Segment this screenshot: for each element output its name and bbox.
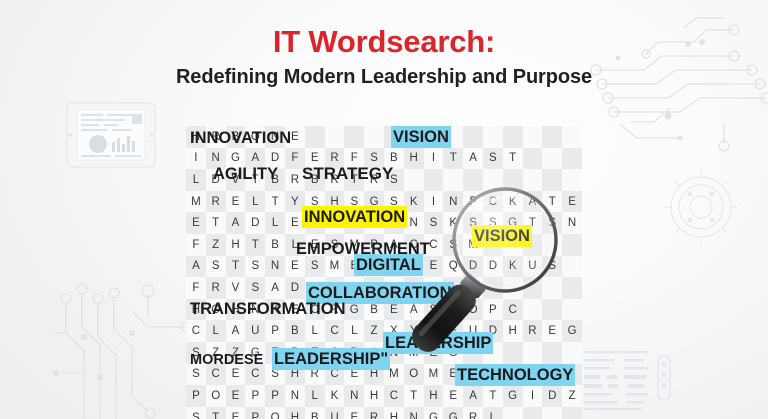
grid-cell[interactable] [503,234,523,256]
grid-cell[interactable]: H [325,191,345,213]
grid-row: SZZGERECBINMEG [186,342,582,364]
grid-cell[interactable]: M [344,234,364,256]
grid-cell[interactable]: Y [404,320,424,342]
grid-cell[interactable]: R [285,342,305,364]
grid-cell[interactable]: V [305,212,325,234]
grid-cell[interactable]: D [285,277,305,299]
grid-cell[interactable]: K [265,299,285,321]
grid-cell[interactable]: U [325,407,345,419]
grid-cell[interactable]: C [206,364,226,386]
grid-cell[interactable]: D [483,320,503,342]
grid-cell[interactable]: R [325,148,345,170]
grid-cell[interactable]: N [245,299,265,321]
page-subtitle: Redefining Modern Leadership and Purpose [0,66,768,88]
grid-cell[interactable]: M [186,191,206,213]
grid-cell[interactable]: S [542,256,562,278]
grid-cell[interactable]: E [226,385,246,407]
grid-cell[interactable]: E [384,299,404,321]
grid-cell[interactable]: L [483,407,503,419]
grid-cell[interactable]: D [424,277,444,299]
grid-cell[interactable] [463,364,483,386]
grid-cell[interactable]: E [344,364,364,386]
grid-cell[interactable] [523,234,543,256]
grid-cell[interactable]: D [245,212,265,234]
grid-cell[interactable]: E [542,320,562,342]
grid-row: HRBONE [186,126,582,148]
grid-cell[interactable]: S [325,234,345,256]
grid-cell[interactable]: E [344,256,364,278]
grid-cell[interactable] [562,148,582,170]
grid-cell[interactable]: E [285,256,305,278]
grid-cell[interactable]: C [325,342,345,364]
grid-cell[interactable]: M [463,234,483,256]
grid-cell[interactable] [542,277,562,299]
grid-cell[interactable]: N [285,385,305,407]
grid-cell[interactable]: S [364,148,384,170]
grid-cell[interactable] [523,277,543,299]
grid-cell[interactable]: H [186,299,206,321]
grid-cell[interactable] [483,277,503,299]
grid-cell[interactable]: I [364,342,384,364]
grid-cell[interactable]: S [245,277,265,299]
grid-cell[interactable]: T [206,212,226,234]
grid-cell[interactable]: A [404,299,424,321]
grid-cell[interactable]: S [384,169,404,191]
grid-cell[interactable]: R [325,299,345,321]
grid-cell[interactable]: B [344,342,364,364]
grid-cell[interactable] [523,407,543,419]
grid-cell[interactable]: F [285,148,305,170]
grid-cell[interactable] [483,364,503,386]
grid-cell[interactable] [523,299,543,321]
grid-cell[interactable]: R [364,256,384,278]
grid-cell[interactable]: S [344,191,364,213]
grid-cell[interactable]: D [206,169,226,191]
grid-cell[interactable]: O [463,299,483,321]
grid-cell[interactable] [523,364,543,386]
grid-cell[interactable]: B [384,148,404,170]
grid-cell[interactable]: M [384,364,404,386]
grid-cell[interactable]: H [424,385,444,407]
grid-cell[interactable]: B [305,169,325,191]
grid-cell[interactable] [463,169,483,191]
grid-cell[interactable]: R [364,407,384,419]
grid-cell[interactable]: P [265,385,285,407]
grid-cell[interactable]: H [404,148,424,170]
grid-row: POEPPNLKNHCTHEATGIDZ [186,385,582,407]
grid-cell[interactable]: S [305,256,325,278]
grid-cell[interactable] [483,169,503,191]
grid-cell[interactable]: I [424,148,444,170]
grid-cell[interactable]: T [265,191,285,213]
grid-cell[interactable]: I [186,148,206,170]
grid-cell[interactable]: P [186,385,206,407]
grid-cell[interactable] [542,126,562,148]
grid-cell[interactable]: B [305,277,325,299]
grid-cell[interactable]: T [523,212,543,234]
grid-cell[interactable] [542,148,562,170]
grid-cell[interactable]: R [364,169,384,191]
grid-cell[interactable]: O [245,126,265,148]
grid-cell[interactable]: A [226,320,246,342]
grid-cell[interactable]: Z [226,342,246,364]
grid-cell[interactable]: U [245,320,265,342]
grid-cell[interactable]: E [305,148,325,170]
grid-cell[interactable]: G [503,385,523,407]
grid-cell[interactable]: H [285,407,305,419]
grid-cell[interactable]: T [503,148,523,170]
grid-cell[interactable]: X [384,320,404,342]
grid-cell[interactable]: O [404,364,424,386]
grid-cell[interactable]: S [206,256,226,278]
grid-cell[interactable] [523,148,543,170]
grid-cell[interactable]: B [265,234,285,256]
grid-cell[interactable]: Z [206,234,226,256]
grid-cell[interactable]: G [562,320,582,342]
grid-cell[interactable]: E [443,385,463,407]
grid-cell[interactable]: V [226,169,246,191]
grid-cell[interactable] [424,126,444,148]
grid-cell[interactable]: C [325,364,345,386]
grid-cell[interactable]: S [186,407,206,419]
grid-cell[interactable] [562,299,582,321]
grid-cell[interactable]: Z [364,320,384,342]
grid-cell[interactable] [503,126,523,148]
grid-cell[interactable]: E [226,364,246,386]
grid-cell[interactable]: C [384,385,404,407]
page-title: IT Wordsearch: [0,26,768,59]
tablet-document-watermark-icon [66,102,156,168]
grid-cell[interactable]: K [404,191,424,213]
grid-cell[interactable] [404,126,424,148]
grid-cell[interactable] [463,342,483,364]
grid-cell[interactable] [562,407,582,419]
grid-cell[interactable]: D [265,148,285,170]
grid-cell[interactable]: E [325,277,345,299]
grid-cell[interactable] [562,234,582,256]
grid-cell[interactable]: E [265,342,285,364]
grid-cell[interactable]: I [523,385,543,407]
grid-cell[interactable]: D [463,256,483,278]
grid-cell[interactable]: Y [404,256,424,278]
grid-cell[interactable]: H [186,126,206,148]
grid-cell[interactable]: Q [443,256,463,278]
grid-cell[interactable]: E [562,191,582,213]
grid-cell[interactable]: N [404,407,424,419]
grid-cell[interactable]: T [206,407,226,419]
grid-cell[interactable]: Z [206,342,226,364]
grid-cell[interactable]: S [265,364,285,386]
grid-cell[interactable]: H [364,364,384,386]
grid-cell[interactable] [344,126,364,148]
grid-cell[interactable]: R [325,169,345,191]
grid-cell[interactable]: H [285,364,305,386]
grid-cell[interactable] [404,169,424,191]
grid-cell[interactable] [463,126,483,148]
grid-cell[interactable]: B [226,126,246,148]
grid-cell[interactable]: E [424,342,444,364]
grid-cell[interactable]: U [523,256,543,278]
grid-cell[interactable]: C [305,299,325,321]
grid-cell[interactable]: E [305,342,325,364]
grid-cell[interactable] [523,126,543,148]
grid-cell[interactable]: R [206,277,226,299]
grid-cell[interactable]: E [285,126,305,148]
grid-cell[interactable]: E [443,364,463,386]
grid-cell[interactable]: E [424,256,444,278]
grid-cell[interactable]: T [226,256,246,278]
grid-cell[interactable]: T [542,191,562,213]
grid-cell[interactable] [503,407,523,419]
grid-cell[interactable] [562,364,582,386]
grid-cell[interactable]: E [285,212,305,234]
grid-cell[interactable]: N [265,256,285,278]
grid-cell[interactable]: G [443,342,463,364]
grid-cell[interactable]: L [206,320,226,342]
grid-cell[interactable]: S [364,212,384,234]
grid-cell[interactable]: T [245,234,265,256]
grid-cell[interactable]: D [483,256,503,278]
grid-cell[interactable]: G [344,299,364,321]
grid-cell[interactable]: A [523,191,543,213]
grid-cell[interactable]: N [344,212,364,234]
grid-cell[interactable]: A [463,385,483,407]
grid-cell[interactable] [562,342,582,364]
grid-cell[interactable]: R [206,126,226,148]
grid-cell[interactable]: L [305,320,325,342]
grid-cell[interactable]: R [285,169,305,191]
grid-cell[interactable]: D [542,385,562,407]
grid-cell[interactable]: O [206,385,226,407]
grid-cell[interactable]: B [305,407,325,419]
grid-cell[interactable]: E [226,407,246,419]
grid-cell[interactable]: C [325,320,345,342]
document-watermark-icon [582,348,694,412]
grid-cell[interactable]: O [265,407,285,419]
grid-cell[interactable]: G [443,407,463,419]
grid-cell[interactable] [443,169,463,191]
grid-row: STEPOHBUERHNGGRL [186,407,582,419]
grid-cell[interactable]: L [285,234,305,256]
grid-cell[interactable]: N [443,191,463,213]
grid-cell[interactable] [463,277,483,299]
grid-cell[interactable]: F [344,148,364,170]
grid-cell[interactable]: A [384,234,404,256]
grid-cell[interactable] [542,342,562,364]
grid-cell[interactable] [542,299,562,321]
grid-cell[interactable]: Z [384,277,404,299]
grid-cell[interactable] [503,342,523,364]
grid-cell[interactable] [542,407,562,419]
grid-cell[interactable]: K [443,212,463,234]
grid-cell[interactable]: N [384,342,404,364]
grid-row: FRVSADBECSZKD [186,277,582,299]
grid-cell[interactable]: P [245,407,265,419]
grid-cell[interactable]: P [483,299,503,321]
grid-row: ETADLEVINSENSKSSGTSN [186,212,582,234]
grid-cell[interactable]: B [285,320,305,342]
grid-cell[interactable]: M [325,256,345,278]
grid-cell[interactable]: F [186,277,206,299]
grid-cell[interactable]: S [424,212,444,234]
grid-cell[interactable]: E [384,212,404,234]
grid-cell[interactable]: K [325,385,345,407]
grid-cell[interactable] [443,277,463,299]
grid-row: INGADFERFSBHITAST [186,148,582,170]
grid-cell[interactable]: S [463,212,483,234]
grid-cell[interactable]: C [344,277,364,299]
grid-cell[interactable]: F [443,320,463,342]
grid-row: LDVTBRBRTRS [186,169,582,191]
grid-cell[interactable]: K [404,277,424,299]
grid-cell[interactable]: Y [285,191,305,213]
grid-cell[interactable]: E [226,191,246,213]
grid-cell[interactable] [483,342,503,364]
grid-row: HOHNKECRGBEASSOPC [186,299,582,321]
wordsearch-grid: HRBONEINGADFERFSBHITASTLDVTBRBRTRSMRELTY… [186,126,582,419]
grid-cell[interactable]: A [226,212,246,234]
grid-cell[interactable] [483,126,503,148]
grid-cell[interactable]: N [562,212,582,234]
grid-cell[interactable]: S [384,191,404,213]
grid-cell[interactable] [562,277,582,299]
grid-cell[interactable]: N [344,385,364,407]
grid-cell[interactable]: G [503,212,523,234]
grid-cell[interactable]: S [305,191,325,213]
grid-cell[interactable] [562,126,582,148]
grid-cell[interactable]: G [364,191,384,213]
grid-cell[interactable]: L [265,212,285,234]
grid-cell[interactable]: V [226,277,246,299]
grid-cell[interactable] [503,364,523,386]
grid-cell[interactable]: S [245,256,265,278]
grid-cell[interactable]: C [404,234,424,256]
grid-cell[interactable] [443,126,463,148]
grid-cell[interactable] [325,126,345,148]
grid-cell[interactable] [503,169,523,191]
grid-cell[interactable]: S [542,212,562,234]
grid-cell[interactable]: P [245,385,265,407]
grid-cell[interactable]: R [305,364,325,386]
grid-cell[interactable]: T [245,169,265,191]
grid-cell[interactable] [542,169,562,191]
grid-cell[interactable]: U [463,320,483,342]
grid-cell[interactable] [483,234,503,256]
grid-cell[interactable] [384,126,404,148]
grid-cell[interactable]: S [443,234,463,256]
grid-cell[interactable]: A [463,148,483,170]
grid-cell[interactable]: E [285,299,305,321]
grid-cell[interactable]: F [186,234,206,256]
grid-cell[interactable]: T [443,148,463,170]
grid-cell[interactable]: R [523,320,543,342]
grid-cell[interactable]: N [265,126,285,148]
grid-cell[interactable]: S [424,299,444,321]
grid-cell[interactable]: R [463,407,483,419]
gear-watermark-icon [662,168,740,246]
grid-cell[interactable]: T [344,169,364,191]
grid-cell[interactable]: A [424,320,444,342]
grid-cell[interactable]: P [364,234,384,256]
grid-cell[interactable]: H [503,320,523,342]
grid-cell[interactable] [364,126,384,148]
grid-cell[interactable]: B [265,169,285,191]
grid-cell[interactable]: S [483,212,503,234]
grid-cell[interactable] [503,277,523,299]
grid-cell[interactable]: L [344,320,364,342]
grid-cell[interactable]: S [186,342,206,364]
grid-cell[interactable]: T [483,385,503,407]
grid-cell[interactable]: A [186,256,206,278]
grid-cell[interactable]: C [245,364,265,386]
grid-cell[interactable]: E [305,234,325,256]
grid-cell[interactable]: S [443,299,463,321]
grid-cell[interactable]: G [424,407,444,419]
grid-cell[interactable]: A [265,277,285,299]
grid-cell[interactable]: S [186,364,206,386]
grid-cell[interactable] [424,169,444,191]
grid-cell[interactable] [523,342,543,364]
grid-row: CLAUPBLCLZXYAFUDHREG [186,320,582,342]
grid-cell[interactable]: H [384,407,404,419]
grid-cell[interactable]: C [186,320,206,342]
header: IT Wordsearch: Redefining Modern Leaders… [0,0,768,88]
grid-cell[interactable]: B [364,299,384,321]
grid-cell[interactable]: L [245,191,265,213]
grid-cell[interactable]: E [186,212,206,234]
grid-cell[interactable]: N [206,148,226,170]
grid-cell[interactable] [562,256,582,278]
grid-cell[interactable] [562,169,582,191]
grid-cell[interactable] [523,169,543,191]
grid-cell[interactable] [542,364,562,386]
grid-cell[interactable] [542,234,562,256]
grid-cell[interactable]: I [325,212,345,234]
grid-cell[interactable]: G [226,148,246,170]
grid-cell[interactable]: P [265,320,285,342]
grid-cell[interactable]: F [463,191,483,213]
grid-cell[interactable]: K [503,191,523,213]
grid-cell[interactable]: M [424,364,444,386]
grid-cell[interactable]: C [424,234,444,256]
grid-cell[interactable]: E [384,256,404,278]
grid-cell[interactable]: K [503,256,523,278]
grid-cell[interactable]: H [364,385,384,407]
grid-cell[interactable]: H [226,299,246,321]
grid-cell[interactable]: L [186,169,206,191]
grid-cell[interactable]: Z [562,385,582,407]
grid-cell[interactable]: G [245,342,265,364]
grid-cell[interactable]: I [424,191,444,213]
wordsearch-poster: IT Wordsearch: Redefining Modern Leaders… [0,0,768,419]
grid-cell[interactable]: A [245,148,265,170]
grid-cell[interactable]: M [404,342,424,364]
grid-cell[interactable]: S [364,277,384,299]
grid-row: FZHTBLESMPACCSM [186,234,582,256]
grid-cell[interactable]: O [206,299,226,321]
grid-row: ASTSNESMEREYEQDDKUS [186,256,582,278]
grid-cell[interactable]: N [404,212,424,234]
grid-cell[interactable]: H [226,234,246,256]
grid-cell[interactable]: T [404,385,424,407]
grid-cell[interactable]: C [503,299,523,321]
grid-cell[interactable]: C [483,191,503,213]
grid-cell[interactable] [305,126,325,148]
grid-cell[interactable]: R [206,191,226,213]
grid-cell[interactable]: E [344,407,364,419]
grid-cell[interactable]: L [305,385,325,407]
grid-cell[interactable]: S [483,148,503,170]
